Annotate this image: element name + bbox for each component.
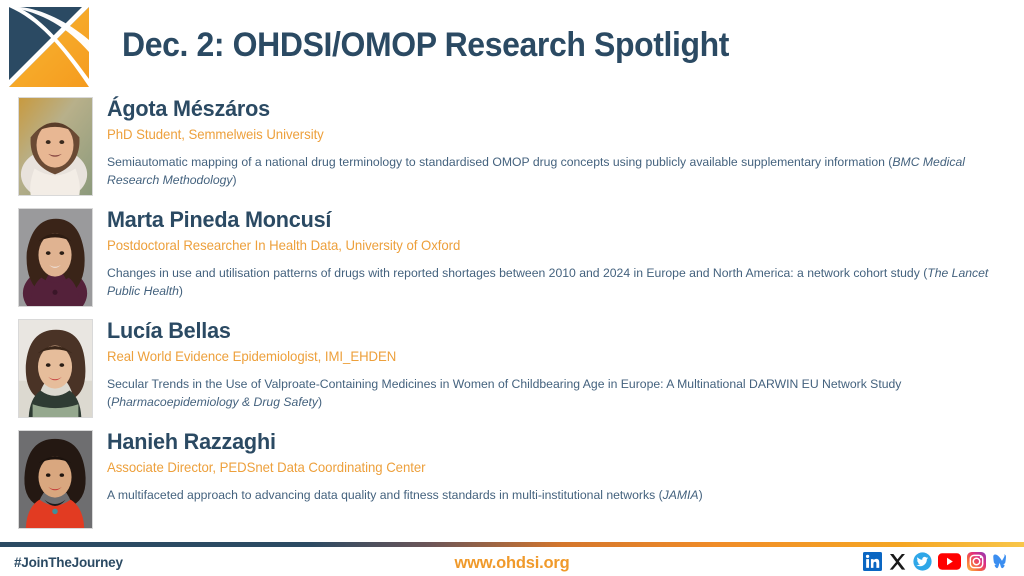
slide-header: Dec. 2: OHDSI/OMOP Research Spotlight [0, 0, 1024, 92]
speaker-affiliation: PhD Student, Semmelweis University [107, 122, 977, 144]
paper-tail: ) [233, 173, 237, 187]
paper-tail: ) [179, 284, 183, 298]
speaker-affiliation: Associate Director, PEDSnet Data Coordin… [107, 455, 977, 477]
speaker-name: Lucía Bellas [107, 315, 968, 344]
slide-footer: #JoinTheJourney www.ohdsi.org [0, 542, 1024, 576]
youtube-icon[interactable] [938, 552, 961, 576]
speaker-paper: Changes in use and utilisation patterns … [107, 255, 990, 300]
speaker-paper: A multifaceted approach to advancing dat… [107, 477, 990, 505]
speaker-affiliation: Real World Evidence Epidemiologist, IMI_… [107, 344, 977, 366]
instagram-icon[interactable] [967, 552, 986, 576]
paper-tail: ) [318, 395, 322, 409]
paper-title: Changes in use and utilisation patterns … [107, 266, 927, 280]
speaker-name: Marta Pineda Moncusí [107, 204, 968, 233]
speaker-details: Lucía Bellas Real World Evidence Epidemi… [107, 315, 1004, 411]
avatar [18, 319, 93, 418]
twitter-bird-icon[interactable] [913, 552, 932, 576]
paper-tail: ) [699, 488, 703, 502]
page-title: Dec. 2: OHDSI/OMOP Research Spotlight [122, 26, 729, 65]
speaker-list: Ágota Mészáros PhD Student, Semmelweis U… [0, 93, 1024, 530]
x-twitter-icon[interactable] [888, 552, 907, 576]
speaker-paper: Semiautomatic mapping of a national drug… [107, 144, 990, 189]
linkedin-icon[interactable] [863, 552, 882, 576]
avatar [18, 97, 93, 196]
paper-journal: JAMIA [663, 488, 699, 502]
speaker-row: Ágota Mészáros PhD Student, Semmelweis U… [0, 93, 1024, 204]
ohdsi-logo [8, 6, 90, 88]
presentation-slide: Dec. 2: OHDSI/OMOP Research Spotlight [0, 0, 1024, 576]
paper-journal: Pharmacoepidemiology & Drug Safety [111, 395, 318, 409]
avatar [18, 430, 93, 529]
speaker-details: Ágota Mészáros PhD Student, Semmelweis U… [107, 93, 1004, 189]
bluesky-icon[interactable] [992, 552, 1012, 576]
speaker-paper: Secular Trends in the Use of Valproate-C… [107, 366, 990, 411]
speaker-row: Hanieh Razzaghi Associate Director, PEDS… [0, 426, 1024, 530]
footer-gradient-stripe [0, 542, 1024, 547]
paper-title: Semiautomatic mapping of a national drug… [107, 155, 892, 169]
paper-title: A multifaceted approach to advancing dat… [107, 488, 663, 502]
speaker-row: Lucía Bellas Real World Evidence Epidemi… [0, 315, 1024, 426]
avatar [18, 208, 93, 307]
speaker-affiliation: Postdoctoral Researcher In Health Data, … [107, 233, 977, 255]
speaker-details: Hanieh Razzaghi Associate Director, PEDS… [107, 426, 1004, 505]
social-links [863, 552, 1012, 576]
speaker-details: Marta Pineda Moncusí Postdoctoral Resear… [107, 204, 1004, 300]
speaker-name: Hanieh Razzaghi [107, 426, 968, 455]
speaker-row: Marta Pineda Moncusí Postdoctoral Resear… [0, 204, 1024, 315]
speaker-name: Ágota Mészáros [107, 93, 968, 122]
